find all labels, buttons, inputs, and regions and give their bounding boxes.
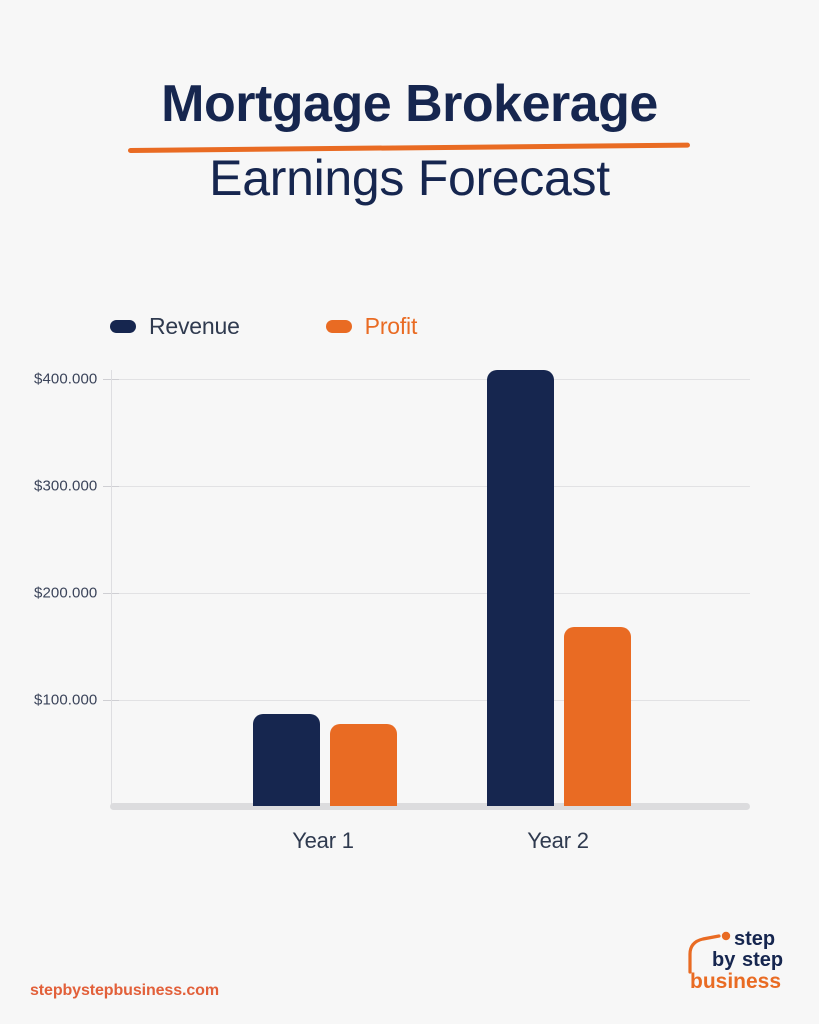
tick-mark-400000 <box>103 379 119 380</box>
legend-swatch-profit-icon <box>326 320 352 333</box>
gridline-200000 <box>111 593 750 594</box>
svg-text:business: business <box>690 970 781 993</box>
svg-text:by: by <box>712 949 736 971</box>
chart-legend: Revenue Profit <box>110 313 417 340</box>
bar-year1-profit[interactable] <box>330 724 397 806</box>
y-axis-label-400000: $400.000 <box>34 371 97 388</box>
gridline-400000 <box>111 379 750 380</box>
y-axis-label-100000: $100.000 <box>34 692 97 709</box>
legend-item-profit[interactable]: Profit <box>326 313 417 340</box>
gridline-300000 <box>111 486 750 487</box>
footer-website-url[interactable]: stepbystepbusiness.com <box>30 982 219 1000</box>
gridline-100000 <box>111 700 750 701</box>
infographic-canvas: Mortgage Brokerage Earnings Forecast Rev… <box>0 0 819 1024</box>
y-axis-label-200000: $200.000 <box>34 585 97 602</box>
page-title: Mortgage Brokerage <box>0 78 819 131</box>
x-axis-label-year-2: Year 2 <box>478 828 638 854</box>
brand-logo[interactable]: step by step business <box>686 928 794 1004</box>
svg-text:step: step <box>742 949 783 971</box>
logo-dot-icon <box>722 932 730 940</box>
y-axis-line <box>111 370 112 807</box>
y-axis-label-300000: $300.000 <box>34 478 97 495</box>
tick-mark-200000 <box>103 593 119 594</box>
tick-mark-300000 <box>103 486 119 487</box>
legend-swatch-revenue-icon <box>110 320 136 333</box>
legend-item-revenue[interactable]: Revenue <box>110 313 240 340</box>
legend-label-profit: Profit <box>365 313 417 340</box>
title-line-secondary: Earnings Forecast <box>0 152 819 205</box>
bar-year1-revenue[interactable] <box>253 714 320 806</box>
title-line-primary: Mortgage Brokerage <box>161 78 658 131</box>
x-axis-baseline <box>110 803 750 810</box>
tick-mark-100000 <box>103 700 119 701</box>
bar-year2-revenue[interactable] <box>487 370 554 806</box>
x-axis-label-year-1: Year 1 <box>243 828 403 854</box>
legend-label-revenue: Revenue <box>149 313 240 340</box>
svg-text:step: step <box>734 928 775 950</box>
bar-year2-profit[interactable] <box>564 627 631 806</box>
